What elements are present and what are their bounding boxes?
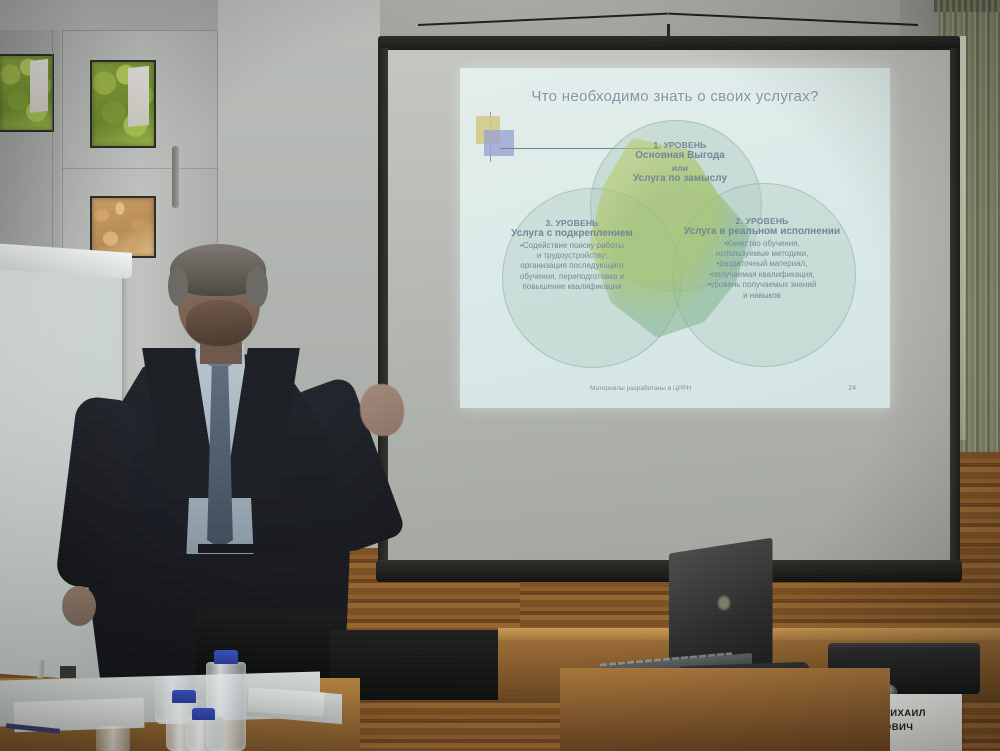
blind-rail[interactable] xyxy=(934,0,1000,12)
venn-label-level-3: 3. УРОВЕНЬ Услуга с подкреплением •Содей… xyxy=(492,218,652,293)
door-seam-horizontal xyxy=(62,168,218,169)
presenter-belt xyxy=(198,544,298,553)
presenter-left-hand xyxy=(62,586,96,626)
venn-label-level-2: 2. УРОВЕНЬ Услуга в реальном исполнении … xyxy=(672,216,852,301)
water-bottle-front-right[interactable] xyxy=(186,716,224,751)
venn-label-level-1: 1. УРОВЕНЬ Основная Выгода или Услуга по… xyxy=(610,140,750,185)
slide-page-number: 24 xyxy=(848,385,856,392)
slide-title: Что необходимо знать о своих услугах? xyxy=(460,88,890,105)
door-window-upper xyxy=(92,62,154,146)
drinking-glass-front[interactable] xyxy=(96,726,130,751)
door-window-side-upper xyxy=(0,56,52,130)
presenter-face-shadow xyxy=(186,300,252,346)
blind-light-stripe xyxy=(960,36,966,440)
bottle-cap-back[interactable] xyxy=(214,650,238,664)
laptop-logo-glint-icon xyxy=(718,596,730,610)
bottle-cap-front-right[interactable] xyxy=(192,708,215,720)
presentation-room-photo: Что необходимо знать о своих услугах? 1.… xyxy=(0,0,1000,751)
slide-footer-credit: Материалы разработаны в ЦРРН xyxy=(590,385,691,392)
middle-table xyxy=(560,668,890,751)
presenter-right-hand xyxy=(360,384,404,436)
presenter-hair-left xyxy=(168,266,188,306)
door-handle[interactable] xyxy=(172,146,179,208)
projected-slide: Что необходимо знать о своих услугах? 1.… xyxy=(460,68,890,408)
screen-right-edge xyxy=(950,48,960,582)
screen-surface: Что необходимо знать о своих услугах? 1.… xyxy=(388,50,950,562)
bottle-cap-front-left[interactable] xyxy=(172,690,196,703)
presenter-hair-right xyxy=(246,266,268,308)
projection-screen[interactable]: Что необходимо знать о своих услугах? 1.… xyxy=(378,36,960,582)
slide-logo-blue-square xyxy=(484,130,514,156)
